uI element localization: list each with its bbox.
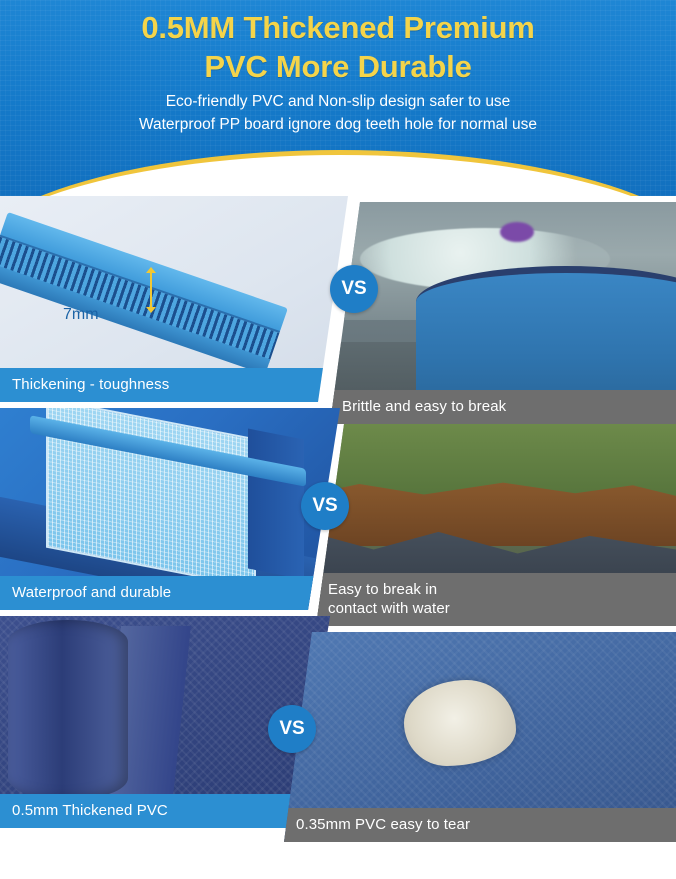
panel-brittle-easy-to-break: Brittle and easy to break [330,202,676,424]
eroded-soil-layer [316,480,676,546]
vs-badge-row1: VS [330,265,378,313]
purple-debris [500,222,534,242]
header-title-line1: 0.5MM Thickened Premium [0,8,676,47]
caption-line2: contact with water [328,599,664,618]
panel-waterproof-durable: Waterproof and durable [0,408,340,610]
caption-thickening-toughness: Thickening - toughness [0,368,348,402]
caption-035mm-pvc-easy-tear: 0.35mm PVC easy to tear [284,808,676,842]
header-banner: 0.5MM Thickened Premium PVC More Durable… [0,0,676,196]
caption-waterproof-durable: Waterproof and durable [0,576,340,610]
header-subtitle-line2: Waterproof PP board ignore dog teeth hol… [0,113,676,136]
caption-line1: Easy to break in [328,580,664,599]
pvc-fabric-roll [8,620,128,800]
panel-thickening-toughness: 7mm Thickening - toughness [0,196,348,402]
tear-hole [404,680,516,766]
thickness-label-7mm: 7mm [63,306,99,324]
vs-badge-row2: VS [301,482,349,530]
panel-easy-break-with-water: Easy to break in contact with water [316,424,676,626]
arrow-head-down-icon [146,307,156,313]
pool-side-edge [248,429,304,580]
header-curve-divider [0,150,676,196]
vs-badge-row3: VS [268,705,316,753]
caption-brittle-easy-to-break: Brittle and easy to break [330,390,676,424]
arrow-head-up-icon [146,267,156,273]
header-title: 0.5MM Thickened Premium PVC More Durable [0,8,676,86]
arrow-shaft [150,272,152,308]
caption-easy-break-with-water: Easy to break in contact with water [316,573,676,626]
caption-05mm-thickened-pvc: 0.5mm Thickened PVC [0,794,330,828]
header-subtitle: Eco-friendly PVC and Non-slip design saf… [0,90,676,136]
header-title-line2: PVC More Durable [0,47,676,86]
panel-035mm-pvc-easy-tear: 0.35mm PVC easy to tear [284,632,676,842]
header-subtitle-line1: Eco-friendly PVC and Non-slip design saf… [0,90,676,113]
infographic-page: 0.5MM Thickened Premium PVC More Durable… [0,0,676,879]
